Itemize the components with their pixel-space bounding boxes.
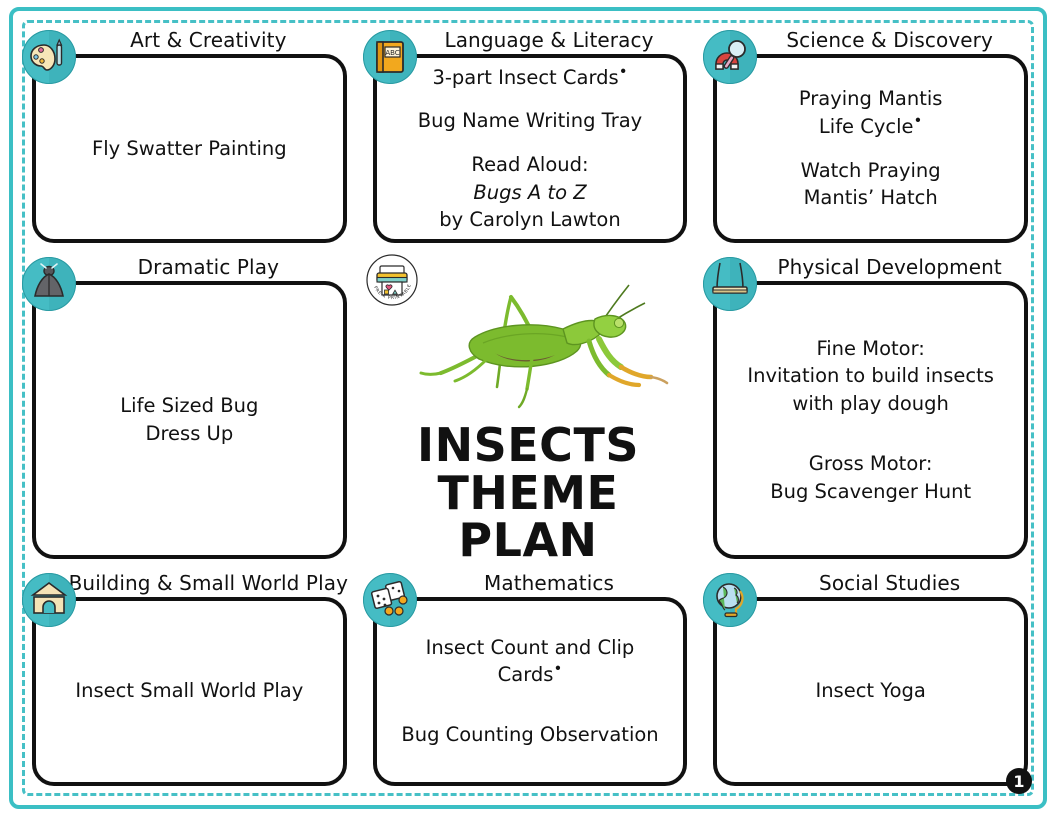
activity-line: Watch Praying (731, 157, 1010, 185)
activity-line: Insect Small World Play (50, 677, 329, 705)
card-box[interactable]: Fly Swatter Painting (32, 54, 347, 243)
card-body: Fine Motor:Invitation to build insectswi… (731, 335, 1010, 505)
card-box[interactable]: Praying MantisLife Cycle•Watch PrayingMa… (713, 54, 1028, 243)
theme-plan-page: Art & Creativity Fly Swatter Painting AB… (0, 0, 1056, 816)
building-blocks-icon (22, 573, 76, 627)
prek-printable-fun-logo: PRE-K PRINTABLE FUN (365, 253, 419, 307)
activity-line: Bugs A to Z (391, 179, 670, 207)
card-body: Praying MantisLife Cycle•Watch PrayingMa… (731, 85, 1010, 212)
card-title: Dramatic Play (68, 255, 349, 281)
line-spacer (391, 135, 670, 151)
activity-line: Dress Up (50, 420, 329, 448)
card-art-creativity[interactable]: Art & Creativity Fly Swatter Painting (22, 28, 353, 249)
card-body: Fly Swatter Painting (50, 135, 329, 163)
card-title: Language & Literacy (409, 28, 690, 54)
activity-line: with play dough (731, 390, 1010, 418)
center-title-block: PRE-K PRINTABLE FUN (363, 255, 694, 564)
paint-palette-icon (22, 30, 76, 84)
asterisk-marker: • (619, 62, 628, 80)
card-box[interactable]: Insect Yoga (713, 597, 1028, 786)
line-spacer (731, 418, 1010, 434)
activity-line: Praying Mantis (731, 85, 1010, 113)
card-body: Life Sized BugDress Up (50, 392, 329, 447)
svg-text:ABC: ABC (385, 49, 399, 57)
card-building-small-world-play[interactable]: Building & Small World Play Insect Small… (22, 571, 353, 792)
card-physical-development[interactable]: Physical Development Fine Motor:Invitati… (703, 255, 1034, 564)
card-body: Insect Count and Clip Cards•Bug Counting… (391, 634, 670, 749)
card-box[interactable]: 3-part Insect Cards•Bug Name Writing Tra… (373, 54, 688, 243)
activity-line: 3-part Insect Cards• (391, 64, 670, 92)
cards-grid: Art & Creativity Fly Swatter Painting AB… (22, 28, 1034, 792)
card-body: 3-part Insect Cards•Bug Name Writing Tra… (391, 64, 670, 234)
card-title: Science & Discovery (749, 28, 1030, 54)
title-line-2: THEME PLAN (437, 466, 618, 567)
card-body: Insect Small World Play (50, 677, 329, 705)
card-social-studies[interactable]: Social Studies Insect Yoga (703, 571, 1034, 792)
line-spacer (391, 705, 670, 721)
line-spacer (731, 434, 1010, 450)
card-science-discovery[interactable]: Science & Discovery Praying MantisLife C… (703, 28, 1034, 249)
card-title: Art & Creativity (68, 28, 349, 54)
activity-line: Bug Scavenger Hunt (731, 478, 1010, 506)
card-box[interactable]: Life Sized BugDress Up (32, 281, 347, 558)
card-box[interactable]: Insect Small World Play (32, 597, 347, 786)
card-mathematics[interactable]: Mathematics Insect Count and Clip Cards•… (363, 571, 694, 792)
magnet-magnifier-icon (703, 30, 757, 84)
praying-mantis-illustration (383, 281, 673, 420)
page-title: INSECTS THEME PLAN (363, 422, 694, 564)
asterisk-marker: • (914, 112, 923, 130)
activity-line: Bug Counting Observation (391, 721, 670, 749)
activity-line: Life Cycle• (731, 113, 1010, 141)
card-language-literacy[interactable]: ABC Language & Literacy 3-part Insect Ca… (363, 28, 694, 249)
card-body: Insect Yoga (731, 677, 1010, 705)
globe-icon (703, 573, 757, 627)
title-line-1: INSECTS (417, 418, 639, 472)
activity-line: Mantis’ Hatch (731, 184, 1010, 212)
activity-line: Insect Count and Clip Cards• (391, 634, 670, 689)
activity-line: Bug Name Writing Tray (391, 107, 670, 135)
activity-line: Gross Motor: (731, 450, 1010, 478)
activity-line: Life Sized Bug (50, 392, 329, 420)
line-spacer (391, 91, 670, 107)
abc-book-icon: ABC (363, 30, 417, 84)
line-spacer (391, 689, 670, 705)
card-title: Physical Development (749, 255, 1030, 281)
activity-line: Invitation to build insects (731, 362, 1010, 390)
card-title: Social Studies (749, 571, 1030, 597)
asterisk-marker: • (553, 660, 562, 678)
page-number-badge: 1 (1006, 768, 1032, 794)
activity-line: by Carolyn Lawton (391, 206, 670, 234)
line-spacer (731, 141, 1010, 157)
card-title: Mathematics (409, 571, 690, 597)
activity-line: Insect Yoga (731, 677, 1010, 705)
card-dramatic-play[interactable]: Dramatic Play Life Sized BugDress Up (22, 255, 353, 564)
activity-line: Fly Swatter Painting (50, 135, 329, 163)
card-box[interactable]: Insect Count and Clip Cards•Bug Counting… (373, 597, 688, 786)
card-title: Building & Small World Play (68, 571, 349, 597)
dice-counters-icon (363, 573, 417, 627)
activity-line: Read Aloud: (391, 151, 670, 179)
activity-line: Fine Motor: (731, 335, 1010, 363)
card-box[interactable]: Fine Motor:Invitation to build insectswi… (713, 281, 1028, 558)
